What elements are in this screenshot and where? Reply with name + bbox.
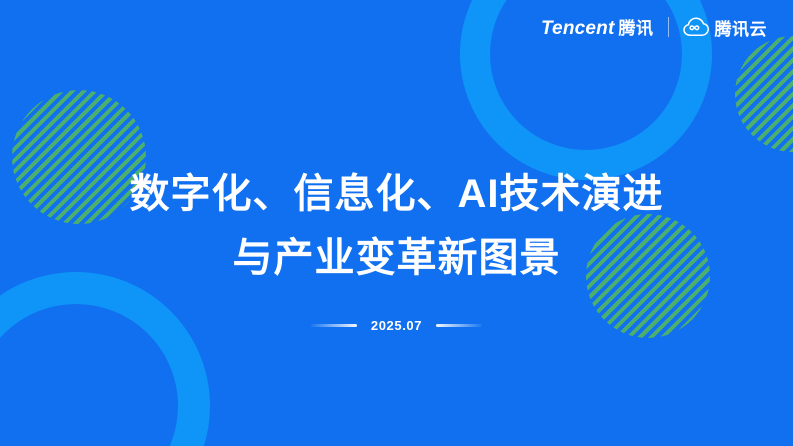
page-title: 数字化、信息化、AI技术演进 与产业变革新图景 xyxy=(0,162,793,290)
tencent-cloud-logo: 腾讯云 xyxy=(683,15,768,40)
striped-circle-top-right-decoration xyxy=(735,36,793,152)
date-label: 2025.07 xyxy=(371,318,422,333)
tencent-cloud-icon xyxy=(683,17,709,37)
ring-bottom-left-decoration xyxy=(0,272,210,446)
date-row: 2025.07 xyxy=(0,318,793,333)
tencent-cloud-label: 腾讯云 xyxy=(715,15,768,40)
tencent-wordmark: Tencent xyxy=(541,18,615,40)
dash-left-decoration xyxy=(311,324,357,327)
title-line-1: 数字化、信息化、AI技术演进 xyxy=(0,162,793,226)
presentation-cover-slide: Tencent 腾讯 腾讯云 数字化、信息化、AI技术演进 与产业变革新图景 2… xyxy=(0,0,793,446)
tencent-logo: Tencent 腾讯 xyxy=(541,14,654,40)
logo-divider xyxy=(668,17,669,37)
tencent-logo-bar: Tencent 腾讯 腾讯云 xyxy=(541,14,767,40)
tencent-wordmark-cn: 腾讯 xyxy=(619,14,654,39)
dash-right-decoration xyxy=(436,324,482,327)
title-line-2: 与产业变革新图景 xyxy=(0,226,793,290)
